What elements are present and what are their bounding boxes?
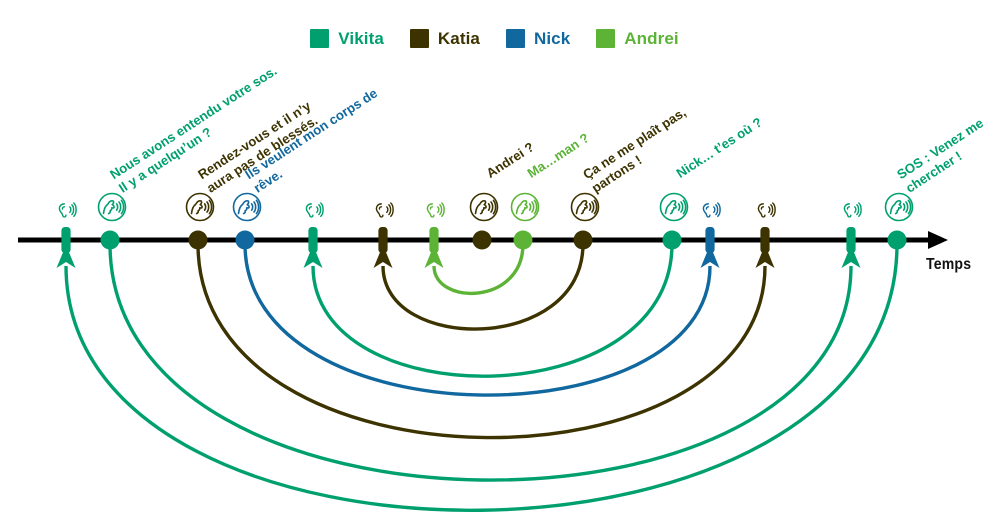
conversation-arc [110,244,851,480]
ear-icon [427,203,444,217]
conversation-arc [198,244,765,438]
speaking-icon [572,194,599,221]
ear-icon [59,203,76,217]
axis-caption: Temps [926,256,971,274]
event-marker-speaking[interactable] [236,231,255,250]
speaking-icon [512,194,539,221]
ear-icon [703,203,720,217]
event-marker-listening[interactable] [760,227,769,253]
timeline-diagram: VikitaKatiaNickAndrei Nous avons entendu… [0,0,989,517]
speaking-icon [187,194,214,221]
ear-icon [306,203,323,217]
speaking-icon [471,194,498,221]
event-marker-speaking[interactable] [514,231,533,250]
event-marker-listening[interactable] [705,227,714,253]
ear-icon [758,203,775,217]
event-marker-speaking[interactable] [888,231,907,250]
ear-icon [844,203,861,217]
event-marker-listening[interactable] [429,227,438,253]
event-marker-speaking[interactable] [473,231,492,250]
ear-icon [376,203,393,217]
event-marker-listening[interactable] [308,227,317,253]
conversation-arc [434,244,523,293]
event-icons-layer [59,194,912,221]
event-marker-listening[interactable] [846,227,855,253]
speaking-icon [886,194,913,221]
event-marker-speaking[interactable] [663,231,682,250]
timeline-canvas [0,0,989,517]
arrow-right-icon [928,231,948,249]
speaking-icon [661,194,688,221]
conversation-arcs-layer [57,244,898,510]
conversation-arc [313,244,672,376]
conversation-arc [383,244,583,329]
event-marker-speaking[interactable] [189,231,208,250]
speaking-icon [234,194,261,221]
event-marker-speaking[interactable] [101,231,120,250]
event-marker-listening[interactable] [61,227,70,253]
event-marker-listening[interactable] [378,227,387,253]
speaking-icon [99,194,126,221]
event-marker-speaking[interactable] [574,231,593,250]
